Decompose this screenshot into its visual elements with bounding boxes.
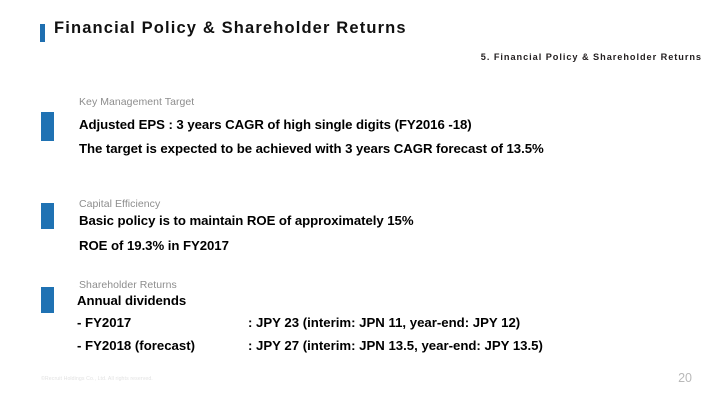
section-body-line: Basic policy is to maintain ROE of appro… <box>79 213 414 228</box>
dividend-year-label: - FY2017 <box>77 315 248 330</box>
annual-dividends-heading: Annual dividends <box>77 293 186 308</box>
section-body-line: ROE of 19.3% in FY2017 <box>79 238 229 253</box>
footer-copyright: ©Recruit Holdings Co., Ltd. All rights r… <box>41 376 153 382</box>
section-label-shareholder-returns: Shareholder Returns <box>79 279 177 291</box>
dividend-detail-value: : JPY 27 (interim: JPN 13.5, year-end: J… <box>248 338 543 353</box>
section-label-key-management-target: Key Management Target <box>79 96 194 108</box>
slide-canvas: { "header": { "title": "Financial Policy… <box>0 0 720 405</box>
title-accent-bar-icon <box>40 24 45 42</box>
section-accent-bar-icon <box>41 287 54 313</box>
page-title: Financial Policy & Shareholder Returns <box>54 19 407 38</box>
section-label-capital-efficiency: Capital Efficiency <box>79 198 160 210</box>
section-accent-bar-icon <box>41 203 54 229</box>
dividend-row: - FY2017: JPY 23 (interim: JPN 11, year-… <box>77 315 520 330</box>
breadcrumb: 5. Financial Policy & Shareholder Return… <box>481 52 702 62</box>
dividend-row: - FY2018 (forecast): JPY 27 (interim: JP… <box>77 338 543 353</box>
section-body-line: The target is expected to be achieved wi… <box>79 141 544 156</box>
footer-page-number: 20 <box>678 371 692 385</box>
section-accent-bar-icon <box>41 112 54 141</box>
slide-header: Financial Policy & Shareholder Returns <box>0 18 720 48</box>
section-body-line: Adjusted EPS : 3 years CAGR of high sing… <box>79 117 472 132</box>
dividend-year-label: - FY2018 (forecast) <box>77 338 248 353</box>
dividend-detail-value: : JPY 23 (interim: JPN 11, year-end: JPY… <box>248 315 520 330</box>
